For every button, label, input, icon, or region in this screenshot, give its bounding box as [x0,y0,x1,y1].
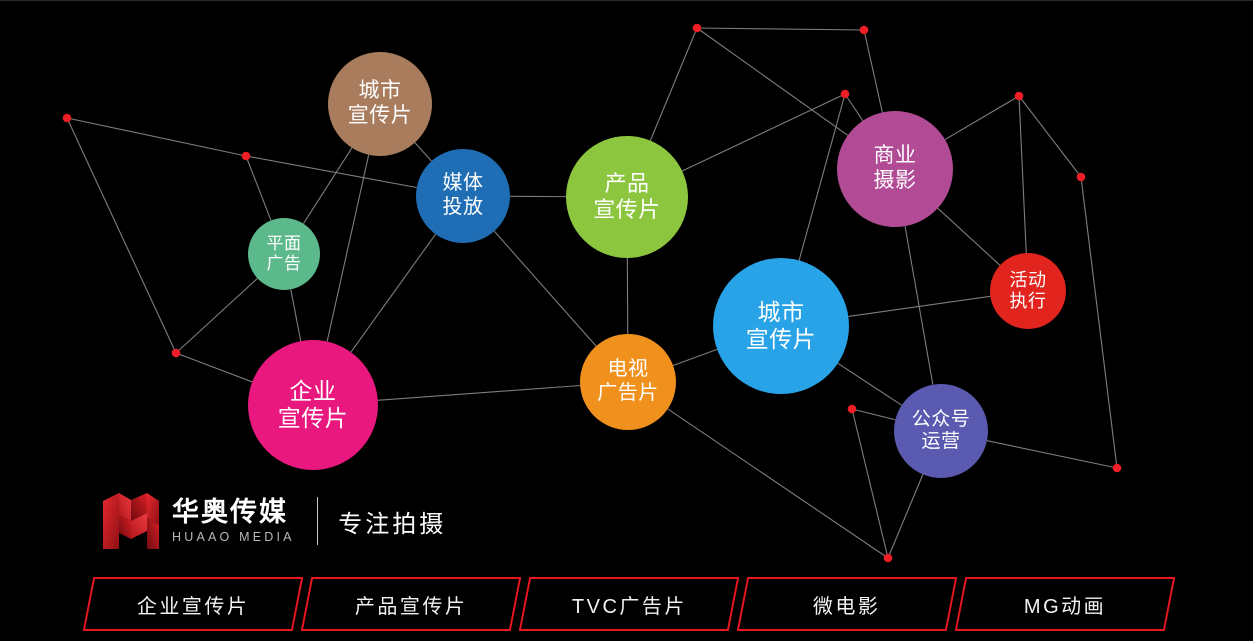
network-edge [650,28,697,141]
tab-micro-film[interactable]: 微电影 [737,577,957,631]
service-bubble-label-line: 企业 [290,378,337,405]
network-edge [845,94,863,121]
network-edge [1019,96,1026,253]
network-node-dot [63,114,72,123]
network-node-dot [172,349,181,358]
network-edge [327,155,369,342]
service-bubble-label-line: 公众号 [912,409,971,431]
network-edge [378,385,580,400]
service-bubble-label-line: 城市 [758,299,805,326]
network-edge [697,28,864,30]
service-tab-bar: 企业宣传片产品宣传片TVC广告片微电影MG动画 [0,569,1253,641]
service-bubble-label-line: 商业 [874,144,917,169]
network-edge [351,234,436,352]
tab-label: MG动画 [1024,590,1106,619]
network-node-dot [693,24,702,33]
service-bubble-event-exec[interactable]: 活动执行 [990,253,1066,329]
network-edge [852,409,895,420]
network-edge [67,118,176,353]
network-edge [864,30,882,112]
service-bubble-label-line: 广告 [267,254,302,274]
service-bubble-product-promo[interactable]: 产品宣传片 [566,136,688,258]
brand-logo-lockup: 华奥传媒 HUAAO MEDIA 专注拍摄 [103,490,446,552]
service-bubble-print-ad[interactable]: 平面广告 [248,218,320,290]
network-edge [673,349,717,365]
service-bubble-label-line: 产品 [604,171,649,197]
network-edge [838,363,902,405]
network-edge [945,96,1019,140]
huaao-h-monogram-icon [103,491,159,551]
network-edge [848,296,990,316]
service-bubble-label-line: 宣传片 [278,405,349,432]
network-edge [697,28,848,135]
network-edge [246,156,271,220]
service-bubble-label-line: 媒体 [443,172,484,196]
logo-divider [317,497,319,545]
service-bubble-label-line: 广告片 [597,382,659,406]
network-edge [291,289,301,341]
tab-label: 微电影 [813,590,881,619]
brand-name-block: 华奥传媒 HUAAO MEDIA [172,498,295,543]
network-edge [905,226,933,385]
service-bubble-label-line: 运营 [921,431,960,453]
network-edge [938,208,1000,265]
service-bubble-label-line: 执行 [1010,291,1047,312]
service-bubble-label-line: 宣传片 [593,197,661,223]
service-bubble-label-line: 活动 [1010,270,1047,291]
service-bubble-label-line: 城市 [359,79,402,104]
network-node-dot [848,405,857,414]
tab-label: TVC广告片 [572,590,687,619]
network-edge [246,156,417,187]
service-bubble-label-line: 宣传片 [746,326,817,353]
service-bubble-tv-commercial[interactable]: 电视广告片 [580,334,676,430]
network-edge [176,278,257,353]
network-node-dot [1113,464,1122,473]
network-edge [668,409,888,558]
network-edge [415,143,432,161]
network-edge [852,409,888,558]
network-node-dot [1015,92,1024,101]
network-edge [67,118,246,156]
network-edge [1019,96,1081,177]
network-node-dot [860,26,869,35]
slide-canvas: 城市宣传片媒体投放平面广告产品宣传片商业摄影活动执行城市宣传片电视广告片公众号运… [0,0,1253,641]
network-edge [888,474,923,558]
network-node-dot [1077,173,1086,182]
network-edge [987,441,1117,468]
service-bubble-city-promo-blue[interactable]: 城市宣传片 [713,258,849,394]
service-bubble-label-line: 电视 [608,358,649,382]
brand-tagline: 专注拍摄 [338,504,446,539]
network-edge [1081,177,1117,468]
tab-mg-animation[interactable]: MG动画 [955,577,1175,631]
tab-label: 企业宣传片 [137,590,250,619]
network-edge [303,148,352,224]
service-bubble-label-line: 平面 [267,234,302,254]
service-bubble-media-placement[interactable]: 媒体投放 [416,149,510,243]
tab-product-promo[interactable]: 产品宣传片 [301,577,521,631]
tab-label: 产品宣传片 [355,590,468,619]
network-node-dot [841,90,850,99]
network-nodes [63,24,1122,563]
network-edge [494,231,596,346]
network-node-dot [884,554,893,563]
network-edges [67,28,1117,558]
service-bubble-label-line: 摄影 [874,169,917,194]
service-bubble-wechat-ops[interactable]: 公众号运营 [894,384,988,478]
brand-name-cn: 华奥传媒 [172,498,295,526]
service-bubble-label-line: 投放 [443,196,484,220]
network-edge [682,94,845,171]
service-bubble-enterprise-promo[interactable]: 企业宣传片 [248,340,378,470]
tab-tvc[interactable]: TVC广告片 [519,577,739,631]
service-bubble-city-promo-brown[interactable]: 城市宣传片 [328,52,432,156]
service-bubble-commercial-photo[interactable]: 商业摄影 [837,111,953,227]
network-edge [176,353,252,382]
brand-name-en: HUAAO MEDIA [172,530,295,544]
network-node-dot [242,152,251,161]
tab-enterprise-promo[interactable]: 企业宣传片 [83,577,303,631]
service-bubble-label-line: 宣传片 [348,104,413,129]
